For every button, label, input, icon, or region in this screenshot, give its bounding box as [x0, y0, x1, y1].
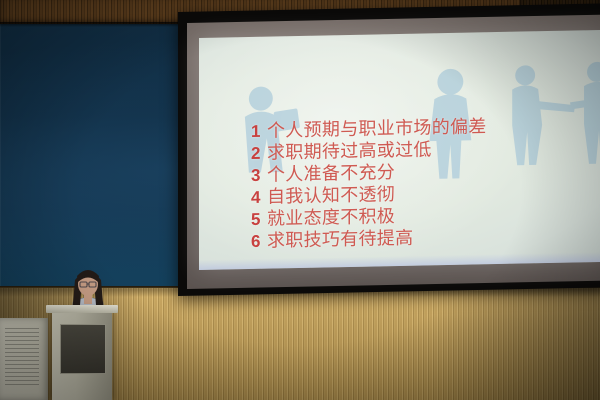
list-item-text: 个人预期与职业市场的偏差 [267, 116, 487, 141]
list-item-number: 4 [251, 187, 262, 208]
list-item-text: 个人准备不充分 [267, 162, 395, 186]
lecture-hall-photo: 1 个人预期与职业市场的偏差 2 求职期待过高或过低 3 个人准备不充分 4 自… [0, 0, 600, 400]
list-item-number: 1 [251, 121, 262, 142]
list-item-number: 2 [251, 143, 262, 164]
list-item-text: 自我认知不透彻 [267, 184, 395, 208]
list-item-number: 3 [251, 165, 262, 186]
list-item-text: 求职技巧有待提高 [267, 228, 413, 252]
slide-surface: 1 个人预期与职业市场的偏差 2 求职期待过高或过低 3 个人准备不充分 4 自… [199, 30, 600, 270]
podium-top [46, 305, 118, 313]
list-item-number: 6 [251, 231, 262, 252]
slide-bullet-list: 1 个人预期与职业市场的偏差 2 求职期待过高或过低 3 个人准备不充分 4 自… [251, 116, 487, 252]
projection-screen: 1 个人预期与职业市场的偏差 2 求职期待过高或过低 3 个人准备不充分 4 自… [178, 12, 600, 296]
list-item-number: 5 [251, 209, 262, 230]
list-item-text: 求职期待过高或过低 [267, 139, 432, 163]
list-item-text: 就业态度不积极 [267, 206, 395, 230]
podium [52, 310, 112, 400]
podium-front-panel [60, 324, 106, 374]
side-cabinet [0, 318, 48, 400]
